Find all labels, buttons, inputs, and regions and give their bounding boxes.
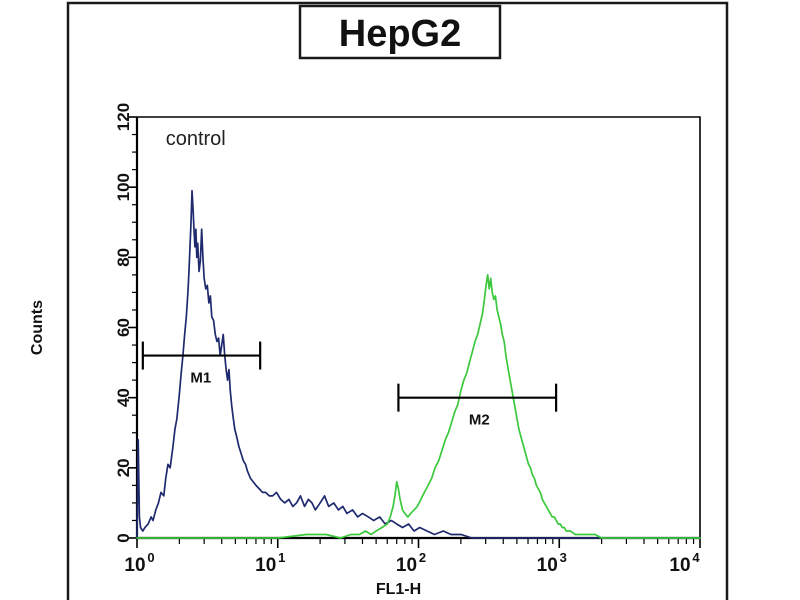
marker-M1-label: M1 <box>190 370 211 387</box>
x-tick-base-4: 10 <box>669 555 690 576</box>
x-axis-title: FL1-H <box>376 581 421 598</box>
y-tick-label-80: 80 <box>114 248 133 267</box>
marker-M2-label: M2 <box>469 412 490 429</box>
x-tick-exponent-2: 2 <box>419 550 426 565</box>
chart-title: HepG2 <box>339 13 461 55</box>
y-tick-label-100: 100 <box>114 173 133 201</box>
y-tick-label-0: 0 <box>114 533 133 542</box>
x-tick-base-3: 10 <box>537 555 558 576</box>
x-tick-base-1: 10 <box>255 555 276 576</box>
y-tick-label-120: 120 <box>114 103 133 131</box>
x-tick-exponent-3: 3 <box>560 550 567 565</box>
x-tick-exponent-1: 1 <box>278 550 285 565</box>
x-tick-base-0: 10 <box>124 555 145 576</box>
y-tick-label-20: 20 <box>114 458 133 477</box>
figure-background <box>0 0 800 600</box>
y-tick-label-40: 40 <box>114 388 133 407</box>
y-axis-title: Counts <box>29 300 46 355</box>
histogram-svg: HepG2 020406080100120Counts1001011021031… <box>0 0 800 600</box>
annotation-0: control <box>166 128 226 150</box>
flow-cytometry-figure: HepG2 020406080100120Counts1001011021031… <box>0 0 800 600</box>
x-tick-exponent-0: 0 <box>147 550 154 565</box>
x-tick-exponent-4: 4 <box>692 550 700 565</box>
x-tick-base-2: 10 <box>396 555 417 576</box>
y-tick-label-60: 60 <box>114 318 133 337</box>
